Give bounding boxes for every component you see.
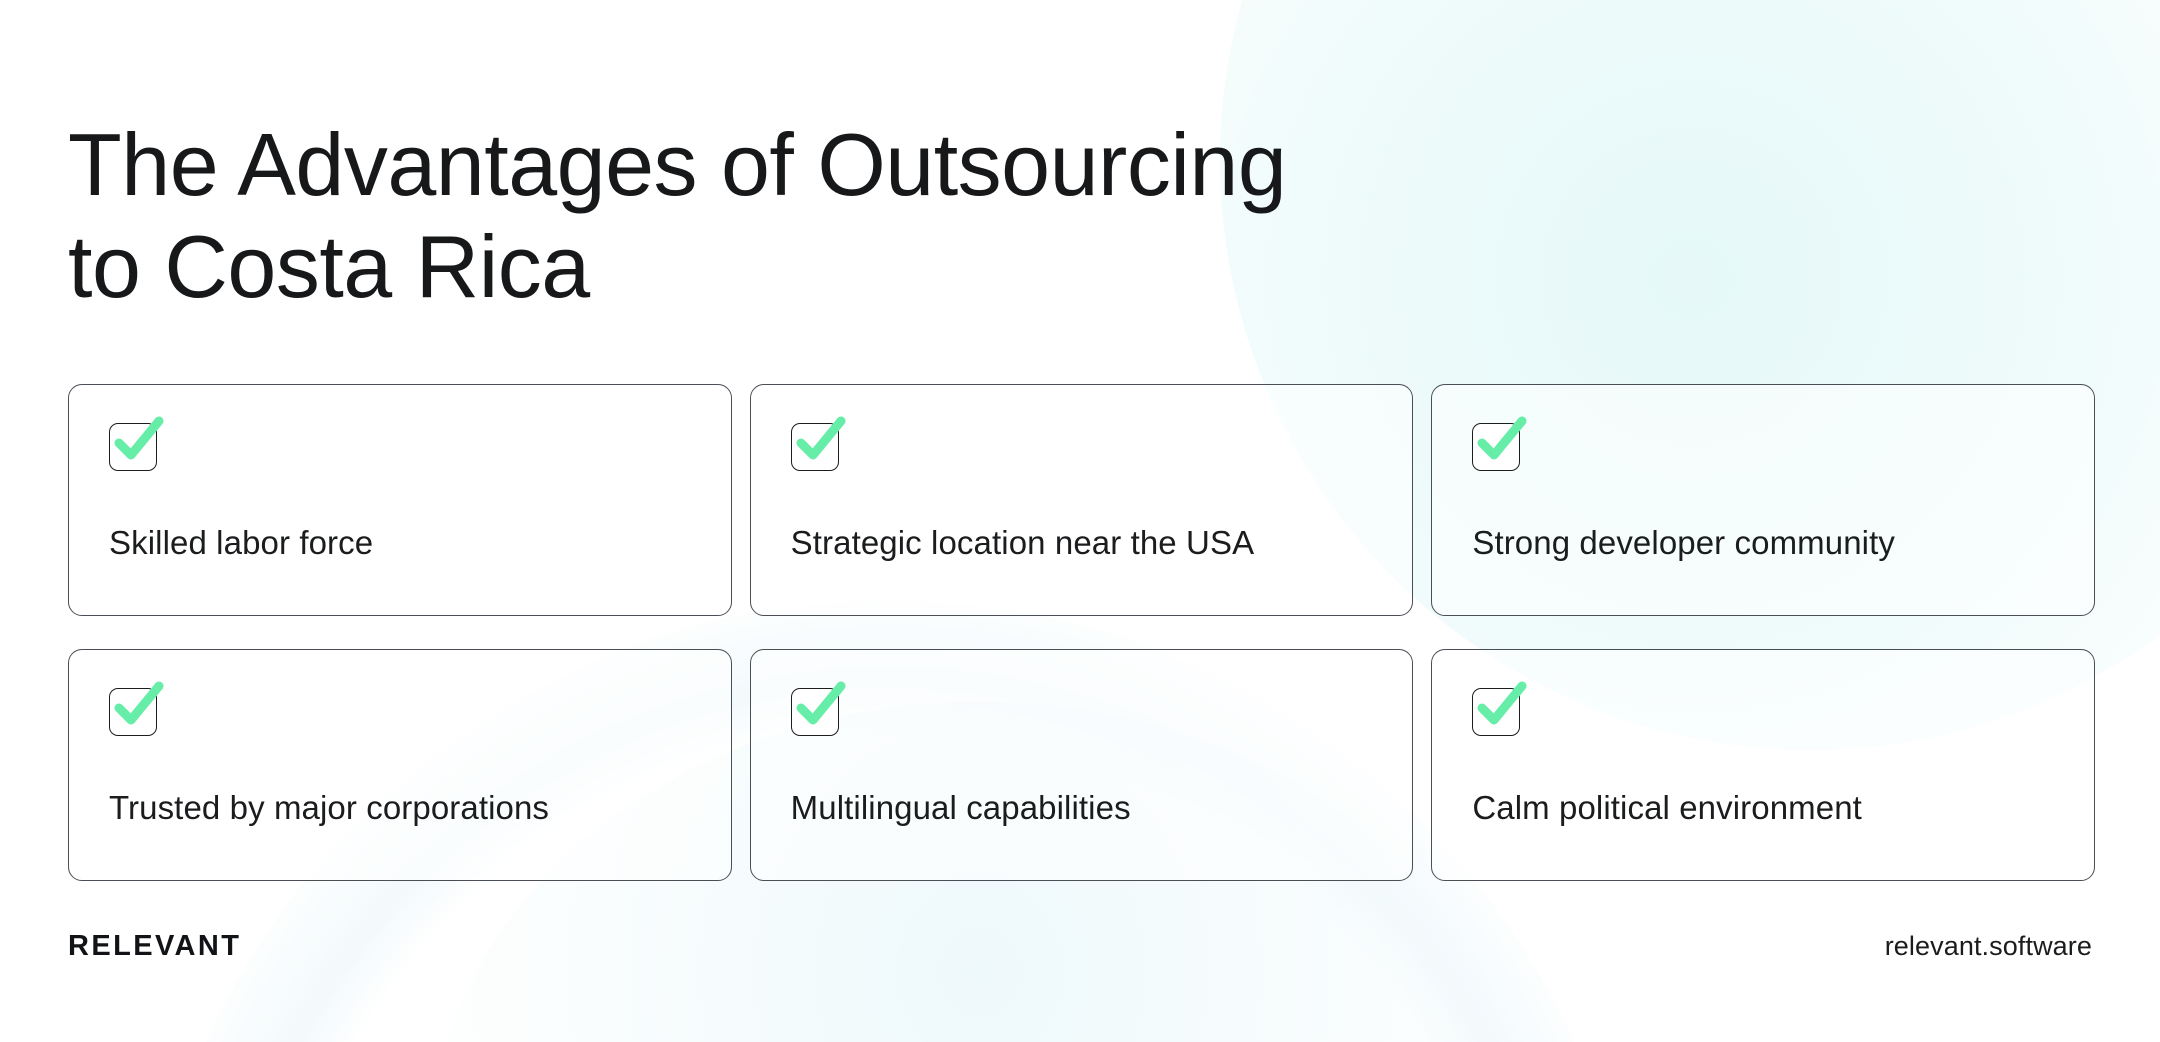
advantage-label: Strategic location near the USA: [791, 523, 1373, 563]
brand-logo: RELEVANT: [68, 930, 241, 963]
check-icon: [1476, 680, 1532, 736]
checkbox-wrapper: [109, 423, 157, 471]
advantage-card: Calm political environment: [1431, 649, 2095, 881]
advantage-label: Multilingual capabilities: [791, 788, 1373, 828]
advantage-card: Trusted by major corporations: [68, 649, 732, 881]
check-icon: [113, 415, 169, 471]
check-icon: [795, 680, 851, 736]
checkbox-wrapper: [1472, 423, 1520, 471]
advantage-card: Skilled labor force: [68, 384, 732, 616]
advantage-label: Skilled labor force: [109, 523, 691, 563]
page-title: The Advantages of Outsourcing to Costa R…: [68, 114, 1568, 318]
checkbox-wrapper: [791, 423, 839, 471]
advantage-card: Multilingual capabilities: [750, 649, 1414, 881]
checkbox-wrapper: [109, 688, 157, 736]
check-icon: [795, 415, 851, 471]
advantage-label: Trusted by major corporations: [109, 788, 691, 828]
advantage-label: Calm political environment: [1472, 788, 2054, 828]
website-url: relevant.software: [1885, 931, 2092, 962]
checkbox-wrapper: [791, 688, 839, 736]
check-icon: [1476, 415, 1532, 471]
advantage-card: Strategic location near the USA: [750, 384, 1414, 616]
slide-footer: RELEVANT relevant.software: [68, 930, 2092, 963]
advantages-grid: Skilled labor force Strategic location n…: [68, 384, 2095, 881]
advantage-label: Strong developer community: [1472, 523, 2054, 563]
checkbox-wrapper: [1472, 688, 1520, 736]
check-icon: [113, 680, 169, 736]
advantage-card: Strong developer community: [1431, 384, 2095, 616]
slide-canvas: The Advantages of Outsourcing to Costa R…: [0, 0, 2160, 1042]
